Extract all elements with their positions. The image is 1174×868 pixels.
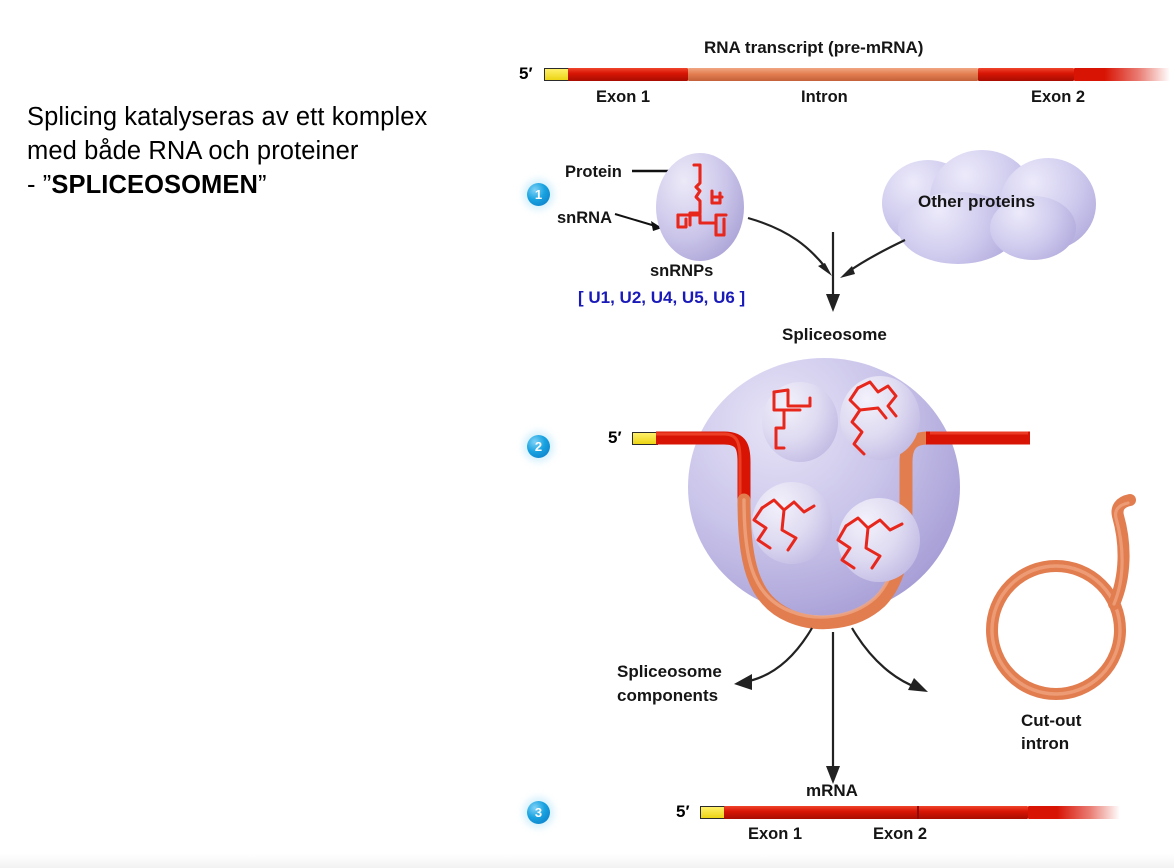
mrna-exon2-fade bbox=[1028, 806, 1120, 819]
spliceosome-components-line-1: Spliceosome bbox=[617, 662, 722, 682]
cut-out-intron-line-1: Cut-out bbox=[1021, 711, 1081, 731]
spliceosome-components-line-2: components bbox=[617, 686, 718, 706]
step3-five-prime-cap bbox=[700, 806, 726, 819]
slide-canvas: Splicing katalyseras av ett komplex med … bbox=[0, 0, 1174, 868]
mrna-exon1-bar bbox=[724, 806, 918, 819]
mrna-label: mRNA bbox=[806, 781, 858, 801]
mrna-exon1-label: Exon 1 bbox=[748, 825, 802, 844]
step3-five-prime-label: 5′ bbox=[676, 802, 690, 822]
cut-out-intron-line-2: intron bbox=[1021, 734, 1069, 754]
mrna-exon-junction-mark bbox=[917, 806, 919, 819]
cut-out-intron-lariat bbox=[980, 490, 1170, 720]
slide-bottom-band bbox=[0, 854, 1174, 868]
mrna-exon2-bar bbox=[918, 806, 1028, 819]
mrna-exon2-label: Exon 2 bbox=[873, 825, 927, 844]
step-badge-3: 3 bbox=[527, 801, 550, 824]
products-arrows bbox=[0, 0, 1174, 868]
